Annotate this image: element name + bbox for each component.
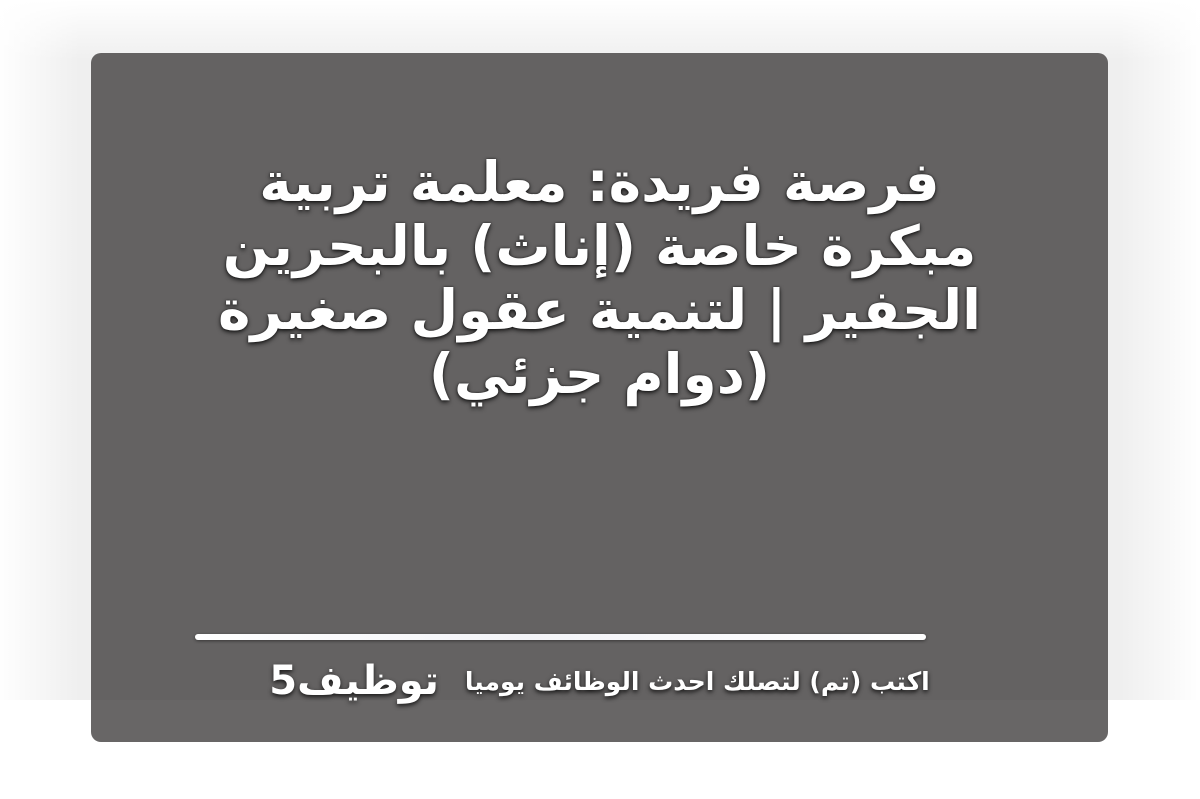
footer-divider [195, 634, 926, 640]
brand-logo: توظيف5 [269, 658, 439, 704]
banner-stage: فرصة فريدة: معلمة تربية مبكرة خاصة (إناث… [0, 0, 1200, 799]
title-line-2: مبكرة خاصة (إناث) بالبحرين [91, 214, 1108, 278]
footer-bar: توظيف5 اكتب (تم) لتصلك احدث الوظائف يومي… [91, 650, 1108, 712]
banner-title: فرصة فريدة: معلمة تربية مبكرة خاصة (إناث… [91, 150, 1108, 406]
brand-number: 5 [269, 658, 297, 704]
title-line-1: فرصة فريدة: معلمة تربية [91, 150, 1108, 214]
brand-name: توظيف [297, 658, 439, 704]
title-line-4: (دوام جزئي) [91, 342, 1108, 406]
footer-tagline: اكتب (تم) لتصلك احدث الوظائف يوميا [465, 667, 930, 696]
title-line-3: الجفير | لتنمية عقول صغيرة [91, 278, 1108, 342]
